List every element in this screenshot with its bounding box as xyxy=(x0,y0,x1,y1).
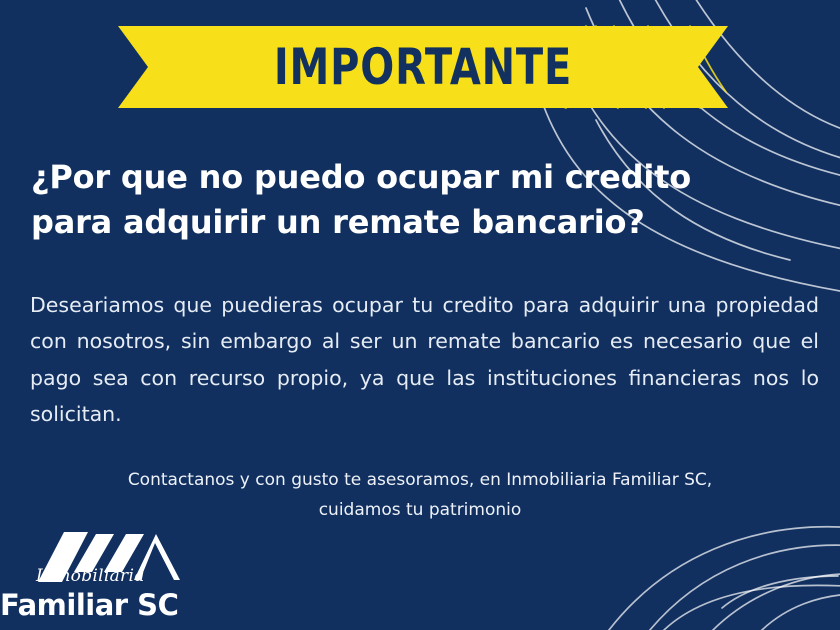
headline-line-2: para adquirir un remate bancario? xyxy=(31,200,771,245)
importante-banner: IMPORTANTE xyxy=(118,26,728,108)
contact-message: Contactanos y con gusto te asesoramos, e… xyxy=(30,466,810,526)
contact-line-2: cuidamos tu patrimonio xyxy=(30,496,810,526)
logo-name-text: Familiar SC xyxy=(0,588,178,622)
headline-line-1: ¿Por que no puedo ocupar mi credito xyxy=(31,155,771,200)
page-title: ¿Por que no puedo ocupar mi credito para… xyxy=(31,155,771,246)
promotional-poster: IMPORTANTE ¿Por que no puedo ocupar mi c… xyxy=(0,0,840,630)
banner-title: IMPORTANTE xyxy=(179,26,667,108)
contact-line-1: Contactanos y con gusto te asesoramos, e… xyxy=(30,466,810,496)
body-paragraph: Deseariamos que puedieras ocupar tu cred… xyxy=(30,287,819,469)
logo-script-text: Inmobiliaria xyxy=(36,566,145,586)
